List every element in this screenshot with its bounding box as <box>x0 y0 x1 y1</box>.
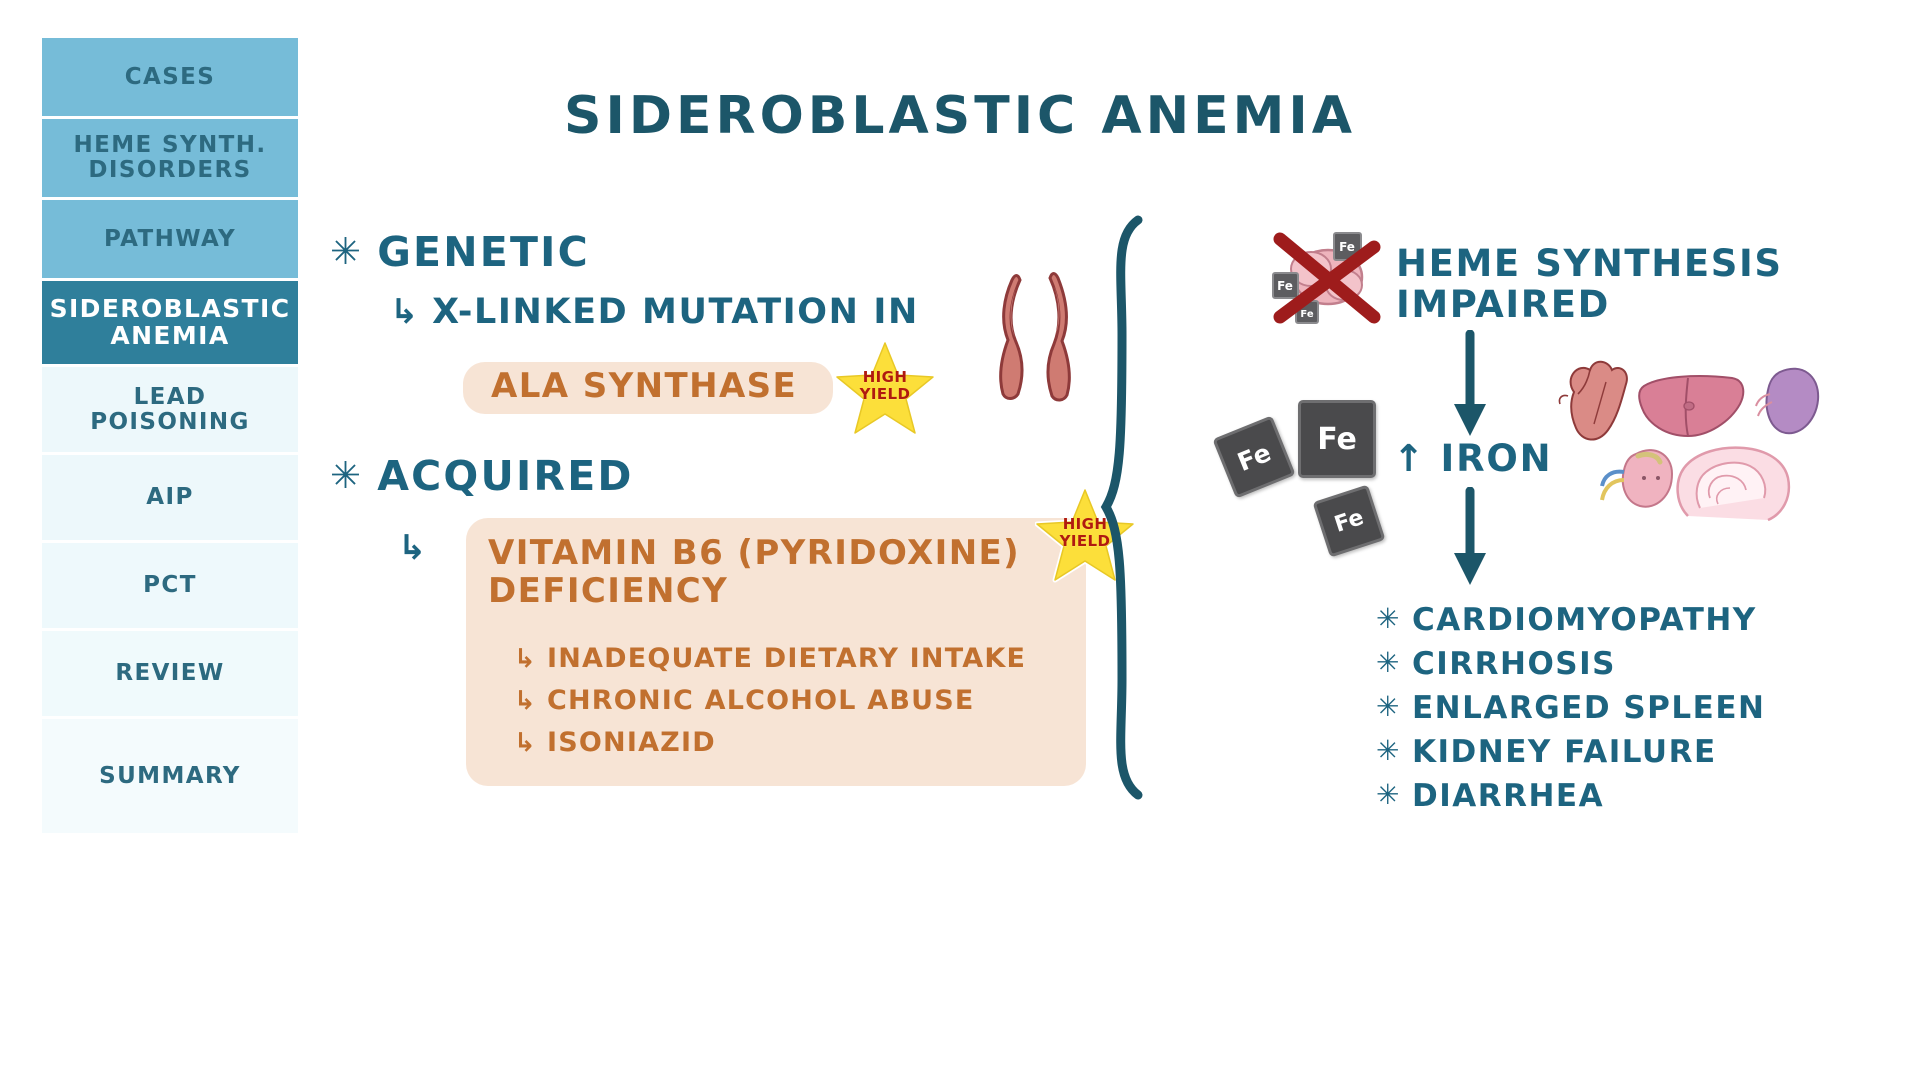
svg-text:Fe: Fe <box>1300 309 1313 320</box>
hook-arrow-icon: ↳ <box>514 681 537 721</box>
list-item-label: ISONIAZID <box>547 727 716 758</box>
hook-arrow-icon: ↳ <box>514 639 537 679</box>
organs-illustration <box>1548 348 1840 528</box>
sidebar-item-label: SUMMARY <box>99 764 241 789</box>
ala-synthase-box: ALA SYNTHASE <box>463 362 833 414</box>
heart-icon <box>1559 362 1626 440</box>
iron-label-text: IRON <box>1441 437 1553 480</box>
list-item-label: CARDIOMYOPATHY <box>1412 602 1757 638</box>
acquired-hook-arrow: ↳ <box>398 528 440 568</box>
hook-arrow-icon: ↳ <box>398 528 428 568</box>
down-arrow-icon <box>1448 487 1492 587</box>
hook-arrow-icon: ↳ <box>390 292 420 332</box>
intestines-icon <box>1678 448 1789 520</box>
sidebar-item-sideroblastic-anemia[interactable]: SIDEROBLASTIC ANEMIA <box>42 281 298 364</box>
slide-root: CASES HEME SYNTH. DISORDERS PATHWAY SIDE… <box>0 0 1920 1080</box>
iron-row: ↑ IRON <box>1393 437 1552 480</box>
fe-cube-icon: Fe <box>1312 484 1385 557</box>
high-yield-text: HIGH YIELD <box>835 369 935 403</box>
sidebar-item-label: PATHWAY <box>104 227 236 252</box>
list-item: ↳INADEQUATE DIETARY INTAKE <box>514 638 1026 680</box>
genetic-heading: ✳GENETIC <box>330 228 590 276</box>
page-title: SIDEROBLASTIC ANEMIA <box>0 86 1920 146</box>
star-bullet-icon: ✳ <box>1376 731 1401 771</box>
genetic-sub-label: X-LINKED MUTATION IN <box>432 292 919 332</box>
sidebar-nav[interactable]: CASES HEME SYNTH. DISORDERS PATHWAY SIDE… <box>42 38 298 836</box>
sidebar-item-label: AIP <box>146 485 193 510</box>
sidebar-item-label: PCT <box>143 573 197 598</box>
star-bullet-icon: ✳ <box>1376 687 1401 727</box>
kidney-icon <box>1602 450 1672 507</box>
curly-brace-icon <box>1100 215 1160 800</box>
list-item: ↳CHRONIC ALCOHOL ABUSE <box>514 680 1026 722</box>
vitamin-b6-causes-list: ↳INADEQUATE DIETARY INTAKE ↳CHRONIC ALCO… <box>514 638 1026 764</box>
star-bullet-icon: ✳ <box>1376 643 1401 683</box>
sidebar-item-pct[interactable]: PCT <box>42 543 298 628</box>
high-yield-badge-genetic: HIGH YIELD <box>835 340 935 436</box>
fe-cube-icon: Fe <box>1298 400 1376 478</box>
svg-text:Fe: Fe <box>1277 279 1293 293</box>
list-item: ✳KIDNEY FAILURE <box>1376 730 1765 774</box>
list-item: ✳CIRRHOSIS <box>1376 642 1765 686</box>
star-bullet-icon: ✳ <box>330 230 363 273</box>
svg-text:Fe: Fe <box>1339 240 1355 254</box>
heme-impaired-label: HEME SYNTHESIS IMPAIRED <box>1396 243 1783 326</box>
ala-synthase-label: ALA SYNTHASE <box>491 367 797 405</box>
sidebar-item-label: LEAD POISONING <box>90 385 250 434</box>
sidebar-item-label: SIDEROBLASTIC ANEMIA <box>50 296 291 350</box>
up-arrow-icon: ↑ <box>1393 437 1426 480</box>
genetic-heading-label: GENETIC <box>377 228 590 276</box>
star-bullet-icon: ✳ <box>1376 775 1401 815</box>
spleen-icon <box>1756 369 1818 434</box>
list-item-label: DIARRHEA <box>1412 778 1604 814</box>
list-item: ✳DIARRHEA <box>1376 774 1765 818</box>
hook-arrow-icon: ↳ <box>514 723 537 763</box>
list-item: ↳ISONIAZID <box>514 722 1026 764</box>
sidebar-item-pathway[interactable]: PATHWAY <box>42 200 298 278</box>
sidebar-item-lead-poisoning[interactable]: LEAD POISONING <box>42 367 298 452</box>
sidebar-item-summary[interactable]: SUMMARY <box>42 719 298 833</box>
liver-icon <box>1639 376 1743 436</box>
sidebar-item-label: REVIEW <box>115 661 224 686</box>
fe-cube-icon: Fe <box>1212 415 1295 498</box>
star-bullet-icon: ✳ <box>330 454 363 497</box>
list-item-label: ENLARGED SPLEEN <box>1412 690 1765 726</box>
sidebar-item-aip[interactable]: AIP <box>42 455 298 540</box>
acquired-heading-label: ACQUIRED <box>377 452 633 500</box>
sidebar-item-review[interactable]: REVIEW <box>42 631 298 716</box>
list-item-label: CIRRHOSIS <box>1412 646 1616 682</box>
heme-crossed-out-icon: Fe Fe Fe <box>1266 225 1386 330</box>
chromosome-icon <box>990 272 1086 404</box>
list-item-label: CHRONIC ALCOHOL ABUSE <box>547 685 975 716</box>
list-item: ✳CARDIOMYOPATHY <box>1376 598 1765 642</box>
vitamin-b6-title: VITAMIN B6 (PYRIDOXINE) DEFICIENCY <box>488 534 1020 610</box>
down-arrow-icon <box>1448 330 1492 438</box>
acquired-heading: ✳ACQUIRED <box>330 452 634 500</box>
symptom-list: ✳CARDIOMYOPATHY ✳CIRRHOSIS ✳ENLARGED SPL… <box>1376 598 1765 818</box>
star-bullet-icon: ✳ <box>1376 599 1401 639</box>
vitamin-b6-box: VITAMIN B6 (PYRIDOXINE) DEFICIENCY ↳INAD… <box>466 518 1086 786</box>
list-item-label: KIDNEY FAILURE <box>1412 734 1717 770</box>
list-item: ✳ENLARGED SPLEEN <box>1376 686 1765 730</box>
list-item-label: INADEQUATE DIETARY INTAKE <box>547 643 1026 674</box>
genetic-sub-line: ↳X-LINKED MUTATION IN <box>390 292 919 332</box>
